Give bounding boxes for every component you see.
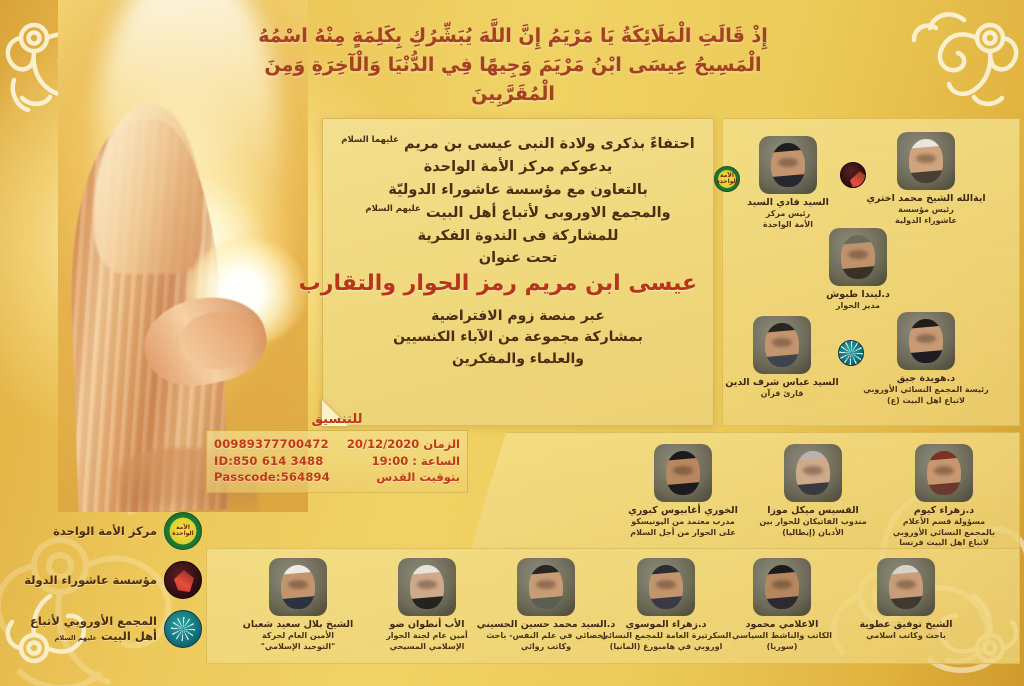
speaker-role-line: اخصائي في علم النفس- باحث (474, 631, 618, 642)
speaker-name: السيد عباس شرف الدين (722, 377, 842, 389)
speaker-card: السيد فادي السيد رئيس مركزالأمة الواحدةا… (728, 136, 848, 230)
phone-number[interactable]: 00989377700472 (214, 436, 333, 453)
ashura-logo-icon (840, 162, 866, 188)
speaker-portrait (269, 558, 327, 616)
speaker-name: د.زهراء الموسوي (600, 619, 732, 631)
corner-ornament-top-right-icon (902, 2, 1022, 122)
speaker-card: د.زهراء كيوم مسؤولة قسم الأعلامبالمجمع ا… (878, 444, 1010, 549)
speaker-portrait (897, 132, 955, 190)
organization-list: الأمةالواحدة مركز الأمة الواحدة مؤسسة عا… (6, 512, 202, 659)
event-poster: إِذْ قَالَتِ الْمَلَائِكَةُ يَا مَرْيَمُ… (0, 0, 1024, 686)
announcement-line-1: احتفاءً بذكرى ولادة النبى عيسى بن مريم ع… (339, 133, 697, 155)
speaker-role-line: مسؤولة قسم الأعلام (878, 517, 1010, 528)
speaker-card: د.هويدة جيق رئيسة المجمع النسائي الأوروب… (856, 312, 996, 406)
coordination-details-box: الزمان 20/12/2020 الساعة : 19:00 بتوقيت … (206, 430, 468, 493)
speaker-role-line: باحث وكاتب اسلامي (840, 631, 972, 642)
speaker-portrait (897, 312, 955, 370)
speaker-role-line: قارئ قرآن (722, 389, 842, 400)
announcement-line-3: بالتعاون مع مؤسسة عاشوراء الدوليّة (339, 179, 697, 201)
speaker-name: د.هويدة جيق (856, 373, 996, 385)
organization-row: المجمع الأوروبي لأتباع أهل البيت عليهم ا… (6, 610, 202, 648)
organization-name: مركز الأمة الواحدة (53, 524, 157, 539)
speaker-portrait (829, 228, 887, 286)
speaker-role-line: مدرب معتمد من اليونيسكو (618, 517, 748, 528)
speaker-role-line: رئيسة المجمع النسائي الأوروبي (856, 385, 996, 396)
speaker-card: القسيس ميكل موزا مندوب الفاتيكان للحوار … (748, 444, 878, 538)
speaker-role-line: (سوريا) (716, 642, 848, 653)
speaker-name: الأب أنطوان ضو (362, 619, 492, 631)
speaker-role-line: الأديان (إيطاليا) (748, 528, 878, 539)
speaker-role-line: الأمين العام لحركة (232, 631, 364, 642)
speaker-name: السيد فادي السيد (728, 197, 848, 209)
announcement-line-2: يدعوكم مركز الأمة الواحدة (339, 156, 697, 178)
speaker-portrait (759, 136, 817, 194)
speaker-role-line: الإسلامي المسيحي (362, 642, 492, 653)
speaker-role-line: لاتباع اهل البيت فرنسا (878, 538, 1010, 549)
quran-verse: إِذْ قَالَتِ الْمَلَائِكَةُ يَا مَرْيَمُ… (230, 22, 796, 109)
speaker-card: الشيخ توفيق عطوية باحث وكاتب اسلامي (840, 558, 972, 642)
speaker-card: الاعلامي محمود الكاتب والناشط السياسي(سو… (716, 558, 848, 652)
umma-logo-icon: الأمةالواحدة (714, 166, 740, 192)
speaker-card: د.زهراء الموسوي السكرتيرة العامة للمجمع … (600, 558, 732, 652)
honorific-2: عليهم السلام (365, 204, 420, 214)
participation-line-2: والعلماء والمفكرين (339, 349, 697, 371)
announcement-line-1-text: احتفاءً بذكرى ولادة النبى عيسى بن مريم (404, 136, 695, 152)
speaker-role-line: الكاتب والناشط السياسي (716, 631, 848, 642)
organization-name: المجمع الأوروبي لأتباع أهل البيت عليهم ا… (6, 614, 157, 644)
speaker-name: الخوري أغابيوس كبوري (618, 505, 748, 517)
coordination-heading: للتنسيق (206, 412, 468, 427)
timezone-row: بتوقيت القدس (341, 469, 460, 486)
seminar-title: عيسى ابن مريم رمز الحوار والتقارب (339, 270, 697, 299)
umma-logo-icon: الأمةالواحدة (164, 512, 202, 550)
speaker-portrait (753, 316, 811, 374)
speaker-name: الشيخ بلال سعيد شعبان (232, 619, 364, 631)
zoom-passcode[interactable]: Passcode:564894 (214, 469, 333, 486)
speaker-portrait (517, 558, 575, 616)
announcement-line-5: للمشاركة فى الندوة الفكرية (339, 225, 697, 247)
announcement-panel: احتفاءً بذكرى ولادة النبى عيسى بن مريم ع… (322, 118, 714, 426)
date-value: 20/12/2020 (347, 437, 419, 451)
organization-row: مؤسسة عاشوراء الدولة (6, 561, 202, 599)
time-row: الساعة : 19:00 (341, 453, 460, 470)
organization-row: الأمةالواحدة مركز الأمة الواحدة (6, 512, 202, 550)
speaker-card: الخوري أغابيوس كبوري مدرب معتمد من اليون… (618, 444, 748, 538)
speaker-card: د.السيد محمد حسين الحسيني اخصائي في علم … (474, 558, 618, 652)
speaker-portrait (877, 558, 935, 616)
speaker-role-line: مندوب الفاتيكان للحوار بين (748, 517, 878, 528)
speaker-role-line: بالمجمع النسائي الأوروبي (878, 528, 1010, 539)
speaker-name: الاعلامي محمود (716, 619, 848, 631)
speaker-card: الشيخ بلال سعيد شعبان الأمين العام لحركة… (232, 558, 364, 652)
speaker-role-line: وكاتب روائي (474, 642, 618, 653)
euro-logo-icon (164, 610, 202, 648)
speaker-role-line: اوروبي في هامبورغ (المانيا) (600, 642, 732, 653)
time-value: 19:00 (372, 454, 409, 468)
speaker-name: د.السيد محمد حسين الحسيني (474, 619, 618, 631)
speaker-name: د.زهراء كيوم (878, 505, 1010, 517)
speaker-name: القسيس ميكل موزا (748, 505, 878, 517)
date-label: الزمان (423, 437, 460, 451)
organization-name: مؤسسة عاشوراء الدولة (24, 573, 157, 588)
speaker-card: ايةالله الشيخ محمد اختري رئيس مؤسسةعاشور… (856, 132, 996, 226)
speaker-role-line: رئيس مؤسسة (856, 205, 996, 216)
speaker-role-line: أمين عام لجنة الحوار (362, 631, 492, 642)
platform-line: عبر منصة زوم الافتراضية (339, 306, 697, 328)
speaker-portrait (915, 444, 973, 502)
coordination-block: للتنسيق الزمان 20/12/2020 الساعة : 19:00… (206, 412, 468, 493)
date-row: الزمان 20/12/2020 (341, 436, 460, 453)
speaker-portrait (637, 558, 695, 616)
speaker-name: د.ليندا طبوش (798, 289, 918, 301)
speaker-portrait (654, 444, 712, 502)
speaker-card: د.ليندا طبوش مدير الحوار (798, 228, 918, 312)
speaker-portrait (784, 444, 842, 502)
participation-line-1: بمشاركة مجموعة من الآباء الكنسيين (339, 327, 697, 349)
speaker-portrait (753, 558, 811, 616)
speaker-card: الأب أنطوان ضو أمين عام لجنة الحوارالإسل… (362, 558, 492, 652)
ashura-logo-icon (164, 561, 202, 599)
announcement-line-4: والمجمع الاوروبى لأتباع أهل البيت عليهم … (339, 202, 697, 224)
speaker-name: الشيخ توفيق عطوية (840, 619, 972, 631)
under-title-label: تحت عنوان (339, 250, 697, 266)
honorific-1: عليهما السلام (341, 135, 399, 145)
speaker-role-line: السكرتيرة العامة للمجمع النسائي (600, 631, 732, 642)
speaker-role-line: على الحوار من أجل السلام (618, 528, 748, 539)
speaker-role-line: رئيس مركز (728, 209, 848, 220)
speaker-portrait (398, 558, 456, 616)
zoom-meeting-id[interactable]: ID:850 614 3488 (214, 453, 333, 470)
speaker-role-line: لاتباع اهل البيت (ع) (856, 396, 996, 407)
time-label: الساعة : (412, 454, 460, 468)
announcement-line-4-text: والمجمع الاوروبى لأتباع أهل البيت (426, 205, 671, 221)
euro-assembly-logo-icon (838, 340, 864, 366)
speaker-role-line: مدير الحوار (798, 301, 918, 312)
speaker-role-line: عاشوراء الدولية (856, 216, 996, 227)
speaker-role-line: "التوحيد الإسلامي" (232, 642, 364, 653)
speaker-card: السيد عباس شرف الدين قارئ قرآن (722, 316, 842, 400)
speaker-name: ايةالله الشيخ محمد اختري (856, 193, 996, 205)
